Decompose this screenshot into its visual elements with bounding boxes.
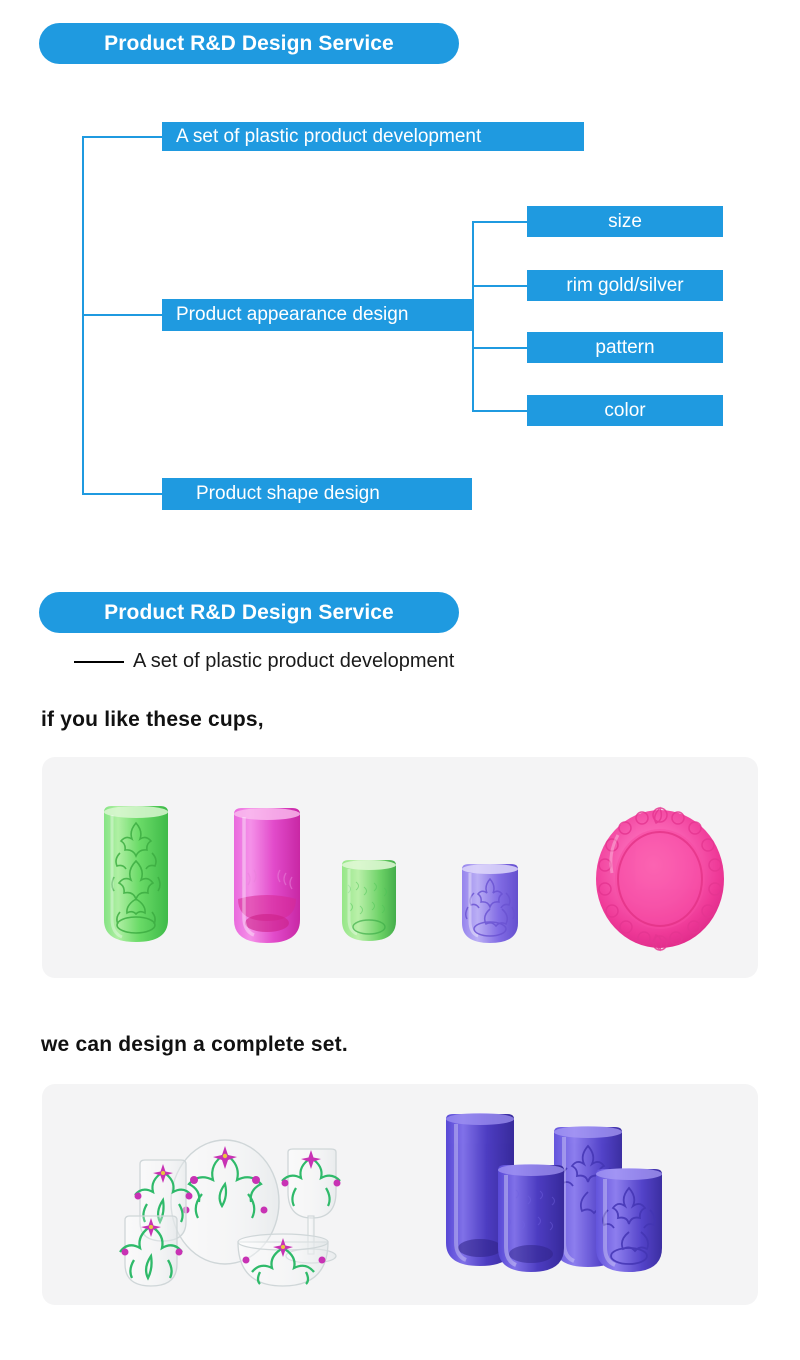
tree-branch-size xyxy=(472,221,527,223)
tree-branch-appearance xyxy=(82,314,162,316)
lead-text-complete-set: we can design a complete set. xyxy=(41,1033,348,1057)
tree-node-plastic-product-development[interactable]: A set of plastic product development xyxy=(162,122,584,151)
cup-tall-magenta xyxy=(234,808,300,943)
tree-node-pattern[interactable]: pattern xyxy=(527,332,723,363)
lead-text-cups: if you like these cups, xyxy=(41,708,264,732)
product-rd-design-page: Product R&D Design Service A set of plas… xyxy=(0,0,800,1360)
tree-branch-shape xyxy=(82,493,162,495)
tree-node-product-shape-design[interactable]: Product shape design xyxy=(162,478,472,510)
product-photo-panel-sets xyxy=(42,1084,758,1305)
em-dash-rule xyxy=(74,661,124,663)
cup-tall-embossed-green xyxy=(104,806,168,942)
sub-caption: A set of plastic product development xyxy=(74,650,454,673)
cup-short-embossed-purple xyxy=(462,864,518,943)
tree-branch-rim xyxy=(472,285,527,287)
tree-node-size[interactable]: size xyxy=(527,206,723,237)
product-photo-panel-cups xyxy=(42,757,758,978)
cup-short-green xyxy=(342,860,396,941)
cobalt-short-plain xyxy=(498,1164,564,1272)
tree-branch-pattern xyxy=(472,347,527,349)
cobalt-short-embossed xyxy=(596,1168,662,1272)
tree-node-color[interactable]: color xyxy=(527,395,723,426)
tree-trunk-level2 xyxy=(472,221,474,411)
set-cobalt-blue xyxy=(446,1113,662,1272)
section-header-pill-2: Product R&D Design Service xyxy=(39,592,459,633)
set-clear-floral-painted xyxy=(120,1140,341,1286)
sub-caption-text: A set of plastic product development xyxy=(133,650,454,673)
floral-bowl xyxy=(238,1234,328,1286)
tree-node-rim-gold-silver[interactable]: rim gold/silver xyxy=(527,270,723,301)
tree-branch-color xyxy=(472,410,527,412)
floral-stemless-front xyxy=(120,1216,183,1286)
plate-round-embossed-pink xyxy=(596,808,724,950)
tree-node-product-appearance-design[interactable]: Product appearance design xyxy=(162,299,472,331)
product-design-tree: A set of plastic product development Pro… xyxy=(0,0,800,560)
tree-branch-set xyxy=(82,136,162,138)
